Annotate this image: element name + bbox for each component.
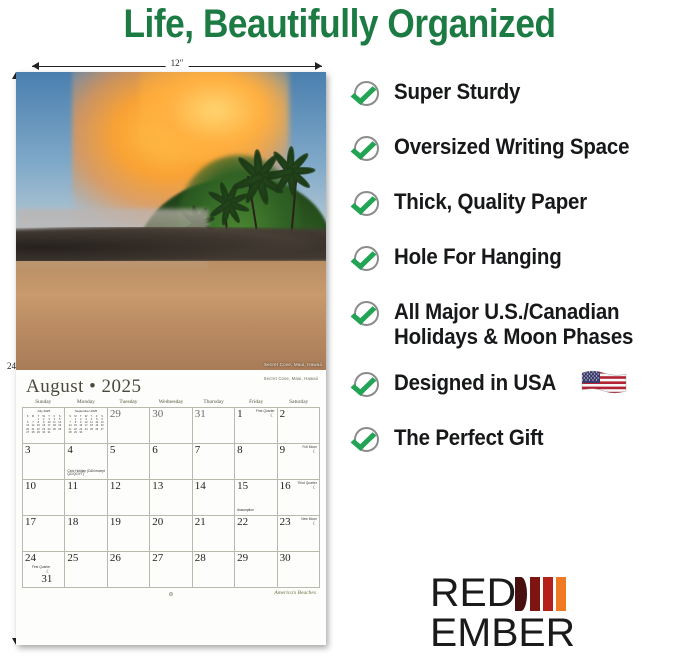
feature-item: Designed in USA xyxy=(352,367,672,401)
calendar-grid-page: Secret Cove, Maui, Hawaii August • 2025 … xyxy=(16,370,326,645)
calendar-day-cell: 7 xyxy=(193,444,235,480)
calendar-series-brand: America's Beaches xyxy=(274,590,316,596)
calendar-day-cell: 30 xyxy=(150,408,192,444)
day-number: 14 xyxy=(195,481,232,492)
day-number: 3 xyxy=(25,445,62,456)
day-number: 26 xyxy=(110,553,147,564)
feature-label: Oversized Writing Space xyxy=(394,131,629,159)
calendar-day-cell: 24First Quarter☾31 xyxy=(23,552,65,588)
calendar-day-cell: 14 xyxy=(193,480,235,516)
calendar-day-cell: 20 xyxy=(150,516,192,552)
calendar-day-cell: 13 xyxy=(150,480,192,516)
logo-text-ember: EMBER xyxy=(430,615,634,652)
feature-item: All Major U.S./Canadian Holidays & Moon … xyxy=(352,296,672,349)
volcanic-rocks xyxy=(16,227,326,261)
calendar-day-cell: 10 xyxy=(23,480,65,516)
moon-phase-label: New Moon☾ xyxy=(301,518,317,527)
holiday-label: Assumption xyxy=(237,509,274,513)
calendar-day-cell: 11 xyxy=(65,480,107,516)
photo-caption: Secret Cove, Maui, Hawaii xyxy=(264,362,322,367)
calendar-day-cell: 17 xyxy=(23,516,65,552)
calendar-day-cell: 1First Quarter☾ xyxy=(235,408,277,444)
calendar-day-cell: September 2025SMTWTFS1234567891011121314… xyxy=(65,408,107,444)
calendar-day-cell: 23New Moon☾ xyxy=(278,516,320,552)
day-number: 10 xyxy=(25,481,62,492)
day-number: 18 xyxy=(67,517,104,528)
moon-phase-label: Full Moon☾ xyxy=(303,446,317,455)
logo-top-row: RED xyxy=(430,575,630,613)
calendar-day-cell: 2 xyxy=(278,408,320,444)
calendar-day-cell: 19 xyxy=(108,516,150,552)
calendar-day-cell: 25 xyxy=(65,552,107,588)
logo-bar-2 xyxy=(530,577,540,611)
day-number: 30 xyxy=(152,409,189,420)
day-number: 7 xyxy=(195,445,232,456)
check-circle-icon xyxy=(352,133,382,163)
calendar-day-cell: 30 xyxy=(278,552,320,588)
calendar-day-cell: 12 xyxy=(108,480,150,516)
calendar-day-cell: 15Assumption xyxy=(235,480,277,516)
feature-item: The Perfect Gift xyxy=(352,422,672,456)
day-number: 28 xyxy=(195,553,232,564)
day-number: 11 xyxy=(67,481,104,492)
calendar-day-cell: July 2025SMTWTFS123456789101112131415161… xyxy=(23,408,65,444)
feature-label: Super Sturdy xyxy=(394,76,520,104)
day-number: 6 xyxy=(152,445,189,456)
feature-list: Super SturdyOversized Writing SpaceThick… xyxy=(352,76,672,477)
day-number: 29 xyxy=(237,553,274,564)
feature-label: All Major U.S./Canadian Holidays & Moon … xyxy=(394,296,633,349)
day-header-monday: Monday xyxy=(65,399,108,407)
width-dimension-label: 12" xyxy=(166,58,189,68)
moon-phase-label: First Quarter☾ xyxy=(256,410,275,419)
day-number: 31 xyxy=(195,409,232,420)
day-number: 12 xyxy=(110,481,147,492)
calendar-day-cell: 9Full Moon☾ xyxy=(278,444,320,480)
day-number: 4 xyxy=(67,445,104,456)
day-of-week-header-row: SundayMondayTuesdayWednesdayThursdayFrid… xyxy=(22,399,320,407)
logo-ember-bars xyxy=(515,577,569,613)
calendar-day-cell: 18 xyxy=(65,516,107,552)
moon-phase-icon: ☾ xyxy=(256,414,275,419)
day-number: 5 xyxy=(110,445,147,456)
calendar-day-cell: 6 xyxy=(150,444,192,480)
sunset-cloud-highlight xyxy=(140,72,289,161)
day-number: 30 xyxy=(280,553,317,564)
day-header-thursday: Thursday xyxy=(192,399,235,407)
calendar-photo-tropical-beach: Secret Cove, Maui, Hawaii xyxy=(16,72,326,370)
moon-phase-icon: ☾ xyxy=(303,450,317,455)
calendar-day-cell: 31 xyxy=(193,408,235,444)
check-circle-icon xyxy=(352,369,382,399)
check-circle-icon xyxy=(352,243,382,273)
moon-phase-label: Third Quarter☾ xyxy=(297,482,317,491)
day-number: 24 xyxy=(25,553,62,564)
feature-label: The Perfect Gift xyxy=(394,422,543,450)
day-header-wednesday: Wednesday xyxy=(150,399,193,407)
check-circle-icon xyxy=(352,78,382,108)
day-number: 22 xyxy=(237,517,274,528)
calendar-product-image: Secret Cove, Maui, Hawaii Secret Cove, M… xyxy=(16,72,326,645)
feature-item: Hole For Hanging xyxy=(352,241,672,275)
check-circle-icon xyxy=(352,298,382,328)
moon-phase-icon: ☾ xyxy=(297,486,317,491)
calendar-day-cell: 8 xyxy=(235,444,277,480)
feature-label: Hole For Hanging xyxy=(394,241,562,269)
calendar-footer: America's Beaches xyxy=(22,589,320,601)
calendar-day-cell: 3 xyxy=(23,444,65,480)
day-header-friday: Friday xyxy=(235,399,278,407)
calendar-day-cell: 5 xyxy=(108,444,150,480)
mini-calendar: July 2025SMTWTFS123456789101112131415161… xyxy=(25,409,62,434)
calendar-day-cell: 22 xyxy=(235,516,277,552)
check-circle-icon xyxy=(352,188,382,218)
day-number: 13 xyxy=(152,481,189,492)
calendar-day-cell: 29 xyxy=(235,552,277,588)
feature-label: Designed in USA xyxy=(394,367,556,395)
day-number: 21 xyxy=(195,517,232,528)
calendar-day-cell: 28 xyxy=(193,552,235,588)
feature-item: Super Sturdy xyxy=(352,76,672,110)
day-number: 31 xyxy=(41,574,52,585)
calendar-photo-credit: Secret Cove, Maui, Hawaii xyxy=(264,376,318,381)
mini-calendar: September 2025SMTWTFS1234567891011121314… xyxy=(67,409,104,434)
day-number: 20 xyxy=(152,517,189,528)
brand-logo: RED EMBER xyxy=(430,575,630,652)
calendar-day-cell: 26 xyxy=(108,552,150,588)
moon-phase-icon: ☾ xyxy=(301,522,317,527)
calendar-day-cell: 16Third Quarter☾ xyxy=(278,480,320,516)
day-number: 8 xyxy=(237,445,274,456)
holiday-label: Civic Holiday (CAN except QC/QC/YT) xyxy=(67,470,104,477)
logo-bottom-row: EMBER xyxy=(430,615,630,652)
calendar-day-cell: 29 xyxy=(108,408,150,444)
hanging-hole-icon xyxy=(169,592,173,596)
usa-flag-icon xyxy=(580,369,628,397)
calendar-day-cell: 27 xyxy=(150,552,192,588)
arrow-left-icon xyxy=(32,62,39,70)
width-dimension-annotation: 12" xyxy=(32,59,322,73)
day-number: 17 xyxy=(25,517,62,528)
day-number: 15 xyxy=(237,481,274,492)
day-header-tuesday: Tuesday xyxy=(107,399,150,407)
day-number: 27 xyxy=(152,553,189,564)
day-header-sunday: Sunday xyxy=(22,399,65,407)
day-header-saturday: Saturday xyxy=(277,399,320,407)
feature-item: Thick, Quality Paper xyxy=(352,186,672,220)
day-number: 2 xyxy=(280,409,317,420)
logo-text-red: RED xyxy=(430,575,516,613)
feature-item: Oversized Writing Space xyxy=(352,131,672,165)
day-number: 25 xyxy=(67,553,104,564)
calendar-day-cell: 21 xyxy=(193,516,235,552)
logo-bar-3 xyxy=(543,577,553,611)
check-circle-icon xyxy=(352,424,382,454)
day-number: 19 xyxy=(110,517,147,528)
day-number: 29 xyxy=(110,409,147,420)
logo-bar-4 xyxy=(556,577,566,611)
arrow-right-icon xyxy=(315,62,322,70)
logo-bar-1 xyxy=(515,577,527,611)
feature-label: Thick, Quality Paper xyxy=(394,186,587,214)
page-title: Life, Beautifully Organized xyxy=(41,2,639,47)
calendar-date-grid: July 2025SMTWTFS123456789101112131415161… xyxy=(22,407,320,588)
calendar-day-cell: 4Civic Holiday (CAN except QC/QC/YT) xyxy=(65,444,107,480)
